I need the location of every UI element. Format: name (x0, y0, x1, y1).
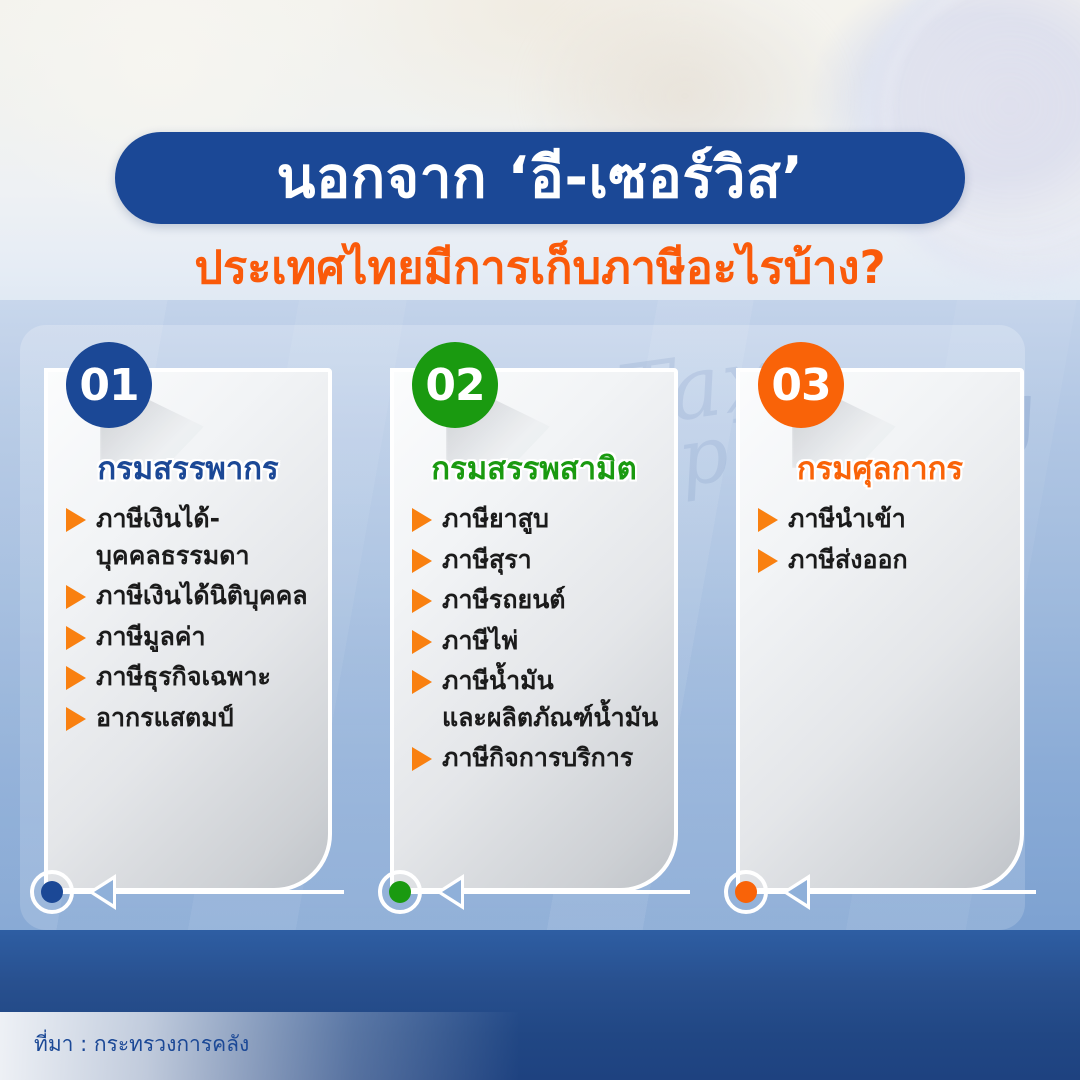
list-item-label: อากรแสตมป์ (96, 701, 234, 735)
marker-arrow-icon (436, 874, 464, 910)
title-pill: นอกจาก ‘อี-เซอร์วิส’ (115, 132, 965, 224)
card-number-badge: 02 (412, 342, 498, 428)
infographic-canvas: Tax planning นอกจาก ‘อี-เซอร์วิส’ ประเทศ… (0, 0, 1080, 1080)
marker-dot-icon (735, 881, 757, 903)
card-number-label: 02 (425, 360, 484, 411)
list-item: ภาษีสุรา (412, 543, 660, 577)
bullet-arrow-icon (412, 747, 432, 771)
page-subtitle: ประเทศไทยมีการเก็บภาษีอะไรบ้าง? (0, 245, 1080, 290)
list-item: ภาษีมูลค่า (66, 620, 314, 654)
card-item-list: ภาษียาสูบ ภาษีสุรา ภาษีรถยนต์ ภาษีไพ่ ภา… (394, 502, 674, 782)
list-item: ภาษีไพ่ (412, 624, 660, 658)
bullet-arrow-icon (758, 549, 778, 573)
list-item: ภาษีกิจการบริการ (412, 741, 660, 775)
connector-line (736, 890, 1036, 894)
connector-line (390, 890, 690, 894)
marker-dot-icon (389, 881, 411, 903)
list-item-label: ภาษีน้ำมัน (442, 664, 554, 698)
bullet-arrow-icon (66, 508, 86, 532)
page-title: นอกจาก ‘อี-เซอร์วิส’ (277, 150, 804, 207)
list-item: ภาษีน้ำมัน (412, 664, 660, 698)
bullet-arrow-icon (412, 670, 432, 694)
card-number-badge: 03 (758, 342, 844, 428)
list-item-label: ภาษีส่งออก (788, 543, 908, 577)
list-item: ภาษีรถยนต์ (412, 583, 660, 617)
list-item-label: ภาษีเงินได้- (96, 502, 220, 536)
list-item-continuation: และผลิตภัณฑ์น้ำมัน (412, 701, 660, 735)
list-item: ภาษีเงินได้นิติบุคคล (66, 579, 314, 613)
list-item-label: ภาษีไพ่ (442, 624, 518, 658)
card-number-label: 03 (771, 360, 830, 411)
list-item-label: ภาษีธุรกิจเฉพาะ (96, 660, 271, 694)
bullet-arrow-icon (412, 589, 432, 613)
bullet-arrow-icon (412, 549, 432, 573)
card-number-badge: 01 (66, 342, 152, 428)
marker-dot-icon (41, 881, 63, 903)
card-heading: กรมสรรพากร (48, 454, 328, 485)
marker-arrow-icon (782, 874, 810, 910)
card-heading: กรมศุลกากร (740, 454, 1020, 485)
list-item-label: ภาษีเงินได้นิติบุคคล (96, 579, 308, 613)
card-revenue-department: 01 กรมสรรพากร ภาษีเงินได้- บุคคลธรรมดา ภ… (44, 368, 332, 892)
source-credit: ที่มา : กระทรวงการคลัง (34, 1034, 249, 1055)
timeline-marker-2[interactable] (378, 870, 422, 914)
bullet-arrow-icon (758, 508, 778, 532)
card-excise-department: 02 กรมสรรพสามิต ภาษียาสูบ ภาษีสุรา ภาษีร… (390, 368, 678, 892)
list-item-label: ภาษีมูลค่า (96, 620, 206, 654)
list-item-label: ภาษียาสูบ (442, 502, 549, 536)
list-item-label: ภาษีสุรา (442, 543, 532, 577)
card-number-label: 01 (79, 360, 138, 411)
list-item-label: ภาษีกิจการบริการ (442, 741, 633, 775)
card-item-list: ภาษีเงินได้- บุคคลธรรมดา ภาษีเงินได้นิติ… (48, 502, 328, 741)
timeline-marker-3[interactable] (724, 870, 768, 914)
list-item-continuation: บุคคลธรรมดา (66, 539, 314, 573)
list-item: ภาษีเงินได้- (66, 502, 314, 536)
list-item: ภาษียาสูบ (412, 502, 660, 536)
marker-arrow-icon (88, 874, 116, 910)
timeline-marker-1[interactable] (30, 870, 74, 914)
bullet-arrow-icon (412, 508, 432, 532)
bullet-arrow-icon (66, 707, 86, 731)
list-item: ภาษีนำเข้า (758, 502, 1006, 536)
card-heading: กรมสรรพสามิต (394, 454, 674, 485)
card-item-list: ภาษีนำเข้า ภาษีส่งออก (740, 502, 1020, 583)
bullet-arrow-icon (66, 626, 86, 650)
list-item-label: ภาษีรถยนต์ (442, 583, 566, 617)
bullet-arrow-icon (66, 585, 86, 609)
list-item: ภาษีส่งออก (758, 543, 1006, 577)
bullet-arrow-icon (412, 630, 432, 654)
list-item: อากรแสตมป์ (66, 701, 314, 735)
list-item: ภาษีธุรกิจเฉพาะ (66, 660, 314, 694)
bullet-arrow-icon (66, 666, 86, 690)
list-item-label: ภาษีนำเข้า (788, 502, 906, 536)
card-customs-department: 03 กรมศุลกากร ภาษีนำเข้า ภาษีส่งออก (736, 368, 1024, 892)
